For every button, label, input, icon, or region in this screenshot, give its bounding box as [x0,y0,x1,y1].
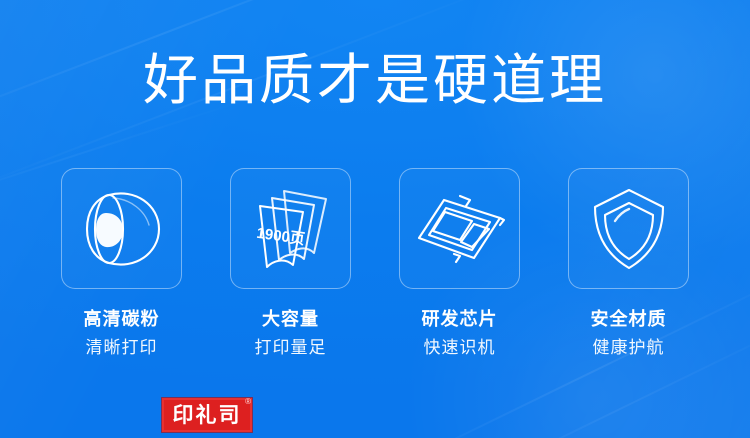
feature-icon-box: 1900页 [230,168,351,289]
feature-icon-box [399,168,520,289]
feature-title: 大容量 [262,308,319,330]
feature-item: 研发芯片 快速识机 [399,168,520,358]
promo-banner: 好品质才是硬道理 [0,0,750,438]
toner-sphere-icon [79,189,165,269]
feature-icon-box [568,168,689,289]
feature-title: 高清碳粉 [84,308,160,330]
feature-subtitle: 清晰打印 [86,337,158,358]
page-title: 好品质才是硬道理 [0,48,750,112]
feature-item: 1900页 大容量 打印量足 [230,168,351,358]
feature-subtitle: 打印量足 [255,337,327,358]
feature-subtitle: 健康护航 [593,337,665,358]
feature-icon-box [61,168,182,289]
logo-text: 印礼司 [162,398,252,432]
paper-capacity-label: 1900页 [255,224,305,248]
brand-logo: 印礼司 ® [162,398,252,432]
feature-item: 高清碳粉 清晰打印 [61,168,182,358]
shield-icon [591,187,667,271]
feature-list: 高清碳粉 清晰打印 1900页 [0,168,750,358]
feature-title: 安全材质 [591,308,667,330]
feature-title: 研发芯片 [422,308,498,330]
feature-subtitle: 快速识机 [424,337,496,358]
paper-stack-icon: 1900页 [248,187,334,271]
registered-trademark-icon: ® [245,398,251,406]
chip-board-icon [414,192,506,266]
feature-item: 安全材质 健康护航 [568,168,689,358]
